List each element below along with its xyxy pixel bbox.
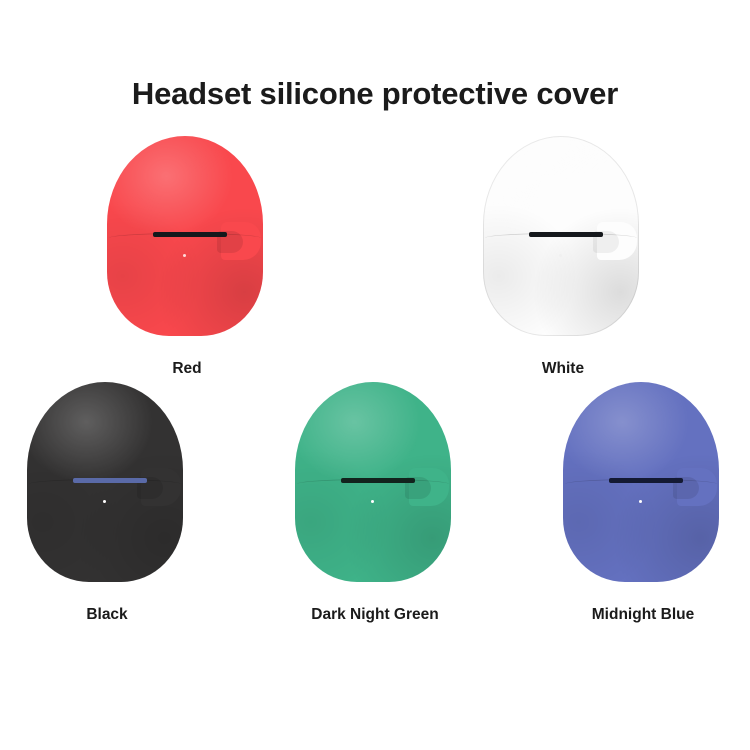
product-color-variants-page: Headset silicone protective cover Red — [0, 0, 750, 750]
product-variant-label: White — [542, 360, 584, 378]
product-variant-red[interactable]: Red — [89, 132, 285, 378]
lid-slot — [153, 232, 227, 237]
earbud-case-body — [563, 382, 719, 582]
led-indicator-dot — [559, 254, 562, 257]
lid-slot — [341, 478, 415, 483]
product-variant-label: Black — [86, 606, 127, 624]
page-title: Headset silicone protective cover — [0, 76, 750, 112]
led-indicator-dot — [639, 500, 642, 503]
product-variant-black[interactable]: Black — [9, 378, 205, 624]
product-variant-dark-night-green[interactable]: Dark Night Green — [277, 378, 473, 624]
product-variant-midnight-blue[interactable]: Midnight Blue — [545, 378, 741, 624]
earbud-case-image-white — [465, 132, 661, 342]
product-variant-white[interactable]: White — [465, 132, 661, 378]
earbud-case-image-midnight-blue — [545, 378, 741, 588]
product-variant-label: Midnight Blue — [592, 606, 694, 624]
earbud-case-image-black — [9, 378, 205, 588]
earbud-case-image-dark-night-green — [277, 378, 473, 588]
earbud-case-body — [27, 382, 183, 582]
product-row-top: Red White — [0, 132, 750, 378]
earbud-case-image-red — [89, 132, 285, 342]
lid-slot — [529, 232, 603, 237]
earbud-case-body — [295, 382, 451, 582]
lid-slot — [609, 478, 683, 483]
led-indicator-dot — [103, 500, 106, 503]
product-variant-label: Red — [172, 360, 201, 378]
product-row-bottom: Black Dark Night Green — [0, 378, 750, 624]
earbud-case-body — [483, 136, 639, 336]
product-variant-label: Dark Night Green — [311, 606, 438, 624]
earbud-case-body — [107, 136, 263, 336]
led-indicator-dot — [183, 254, 186, 257]
lid-slot — [73, 478, 147, 483]
led-indicator-dot — [371, 500, 374, 503]
